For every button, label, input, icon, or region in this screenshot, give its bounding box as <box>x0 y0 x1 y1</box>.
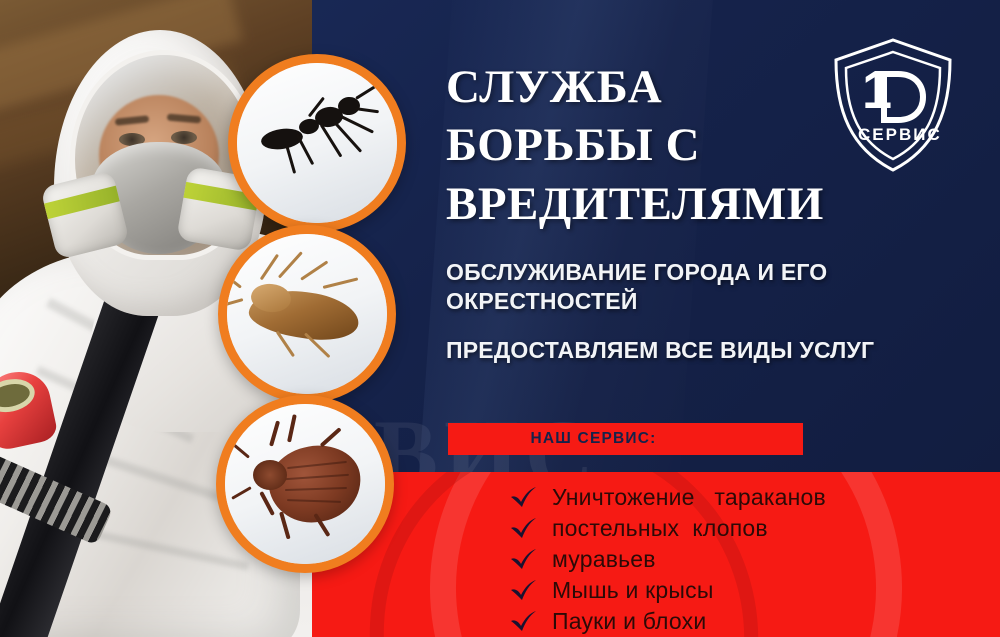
headline-line-1: СЛУЖБА <box>446 58 876 116</box>
service-bar: НАШ СЕРВИС: <box>448 423 803 455</box>
service-label: Мышь и крысы <box>552 577 714 604</box>
bedbug-head <box>253 460 287 490</box>
check-icon <box>508 579 538 601</box>
pest-control-banner: 1Д СЕРВИС <box>0 0 1000 637</box>
list-item: постельных клопов <box>508 513 978 543</box>
list-item: Мышь и крысы <box>508 575 978 605</box>
service-label: муравьев <box>552 546 656 573</box>
check-icon <box>508 548 538 570</box>
service-label: Уничтожение тараканов <box>552 484 826 511</box>
sprayer-nozzle-ring <box>0 375 38 417</box>
page-title: СЛУЖБА БОРЬБЫ С ВРЕДИТЕЛЯМИ <box>446 58 876 233</box>
headline-line-3: ВРЕДИТЕЛЯМИ <box>446 175 876 233</box>
list-item: муравьев <box>508 544 978 574</box>
check-icon <box>508 610 538 632</box>
coverage-subhead: ОБСЛУЖИВАНИЕ ГОРОДА И ЕГО ОКРЕСТНОСТЕЙ <box>446 258 876 315</box>
bedbug-photo-circle <box>216 395 394 573</box>
check-icon <box>508 486 538 508</box>
service-label: Пауки и блохи <box>552 608 706 635</box>
service-bar-label: НАШ СЕРВИС: <box>530 430 656 448</box>
service-list: Уничтожение тараканов постельных клопов … <box>508 482 978 637</box>
list-item: Пауки и блохи <box>508 606 978 636</box>
headline-line-2: БОРЬБЫ С <box>446 116 876 174</box>
ant-photo-circle <box>228 54 406 232</box>
services-subhead: ПРЕДОСТАВЛЯЕМ ВСЕ ВИДЫ УСЛУГ <box>446 336 876 365</box>
cockroach-photo-circle <box>218 225 396 403</box>
check-icon <box>508 517 538 539</box>
service-label: постельных клопов <box>552 515 768 542</box>
list-item: Уничтожение тараканов <box>508 482 978 512</box>
